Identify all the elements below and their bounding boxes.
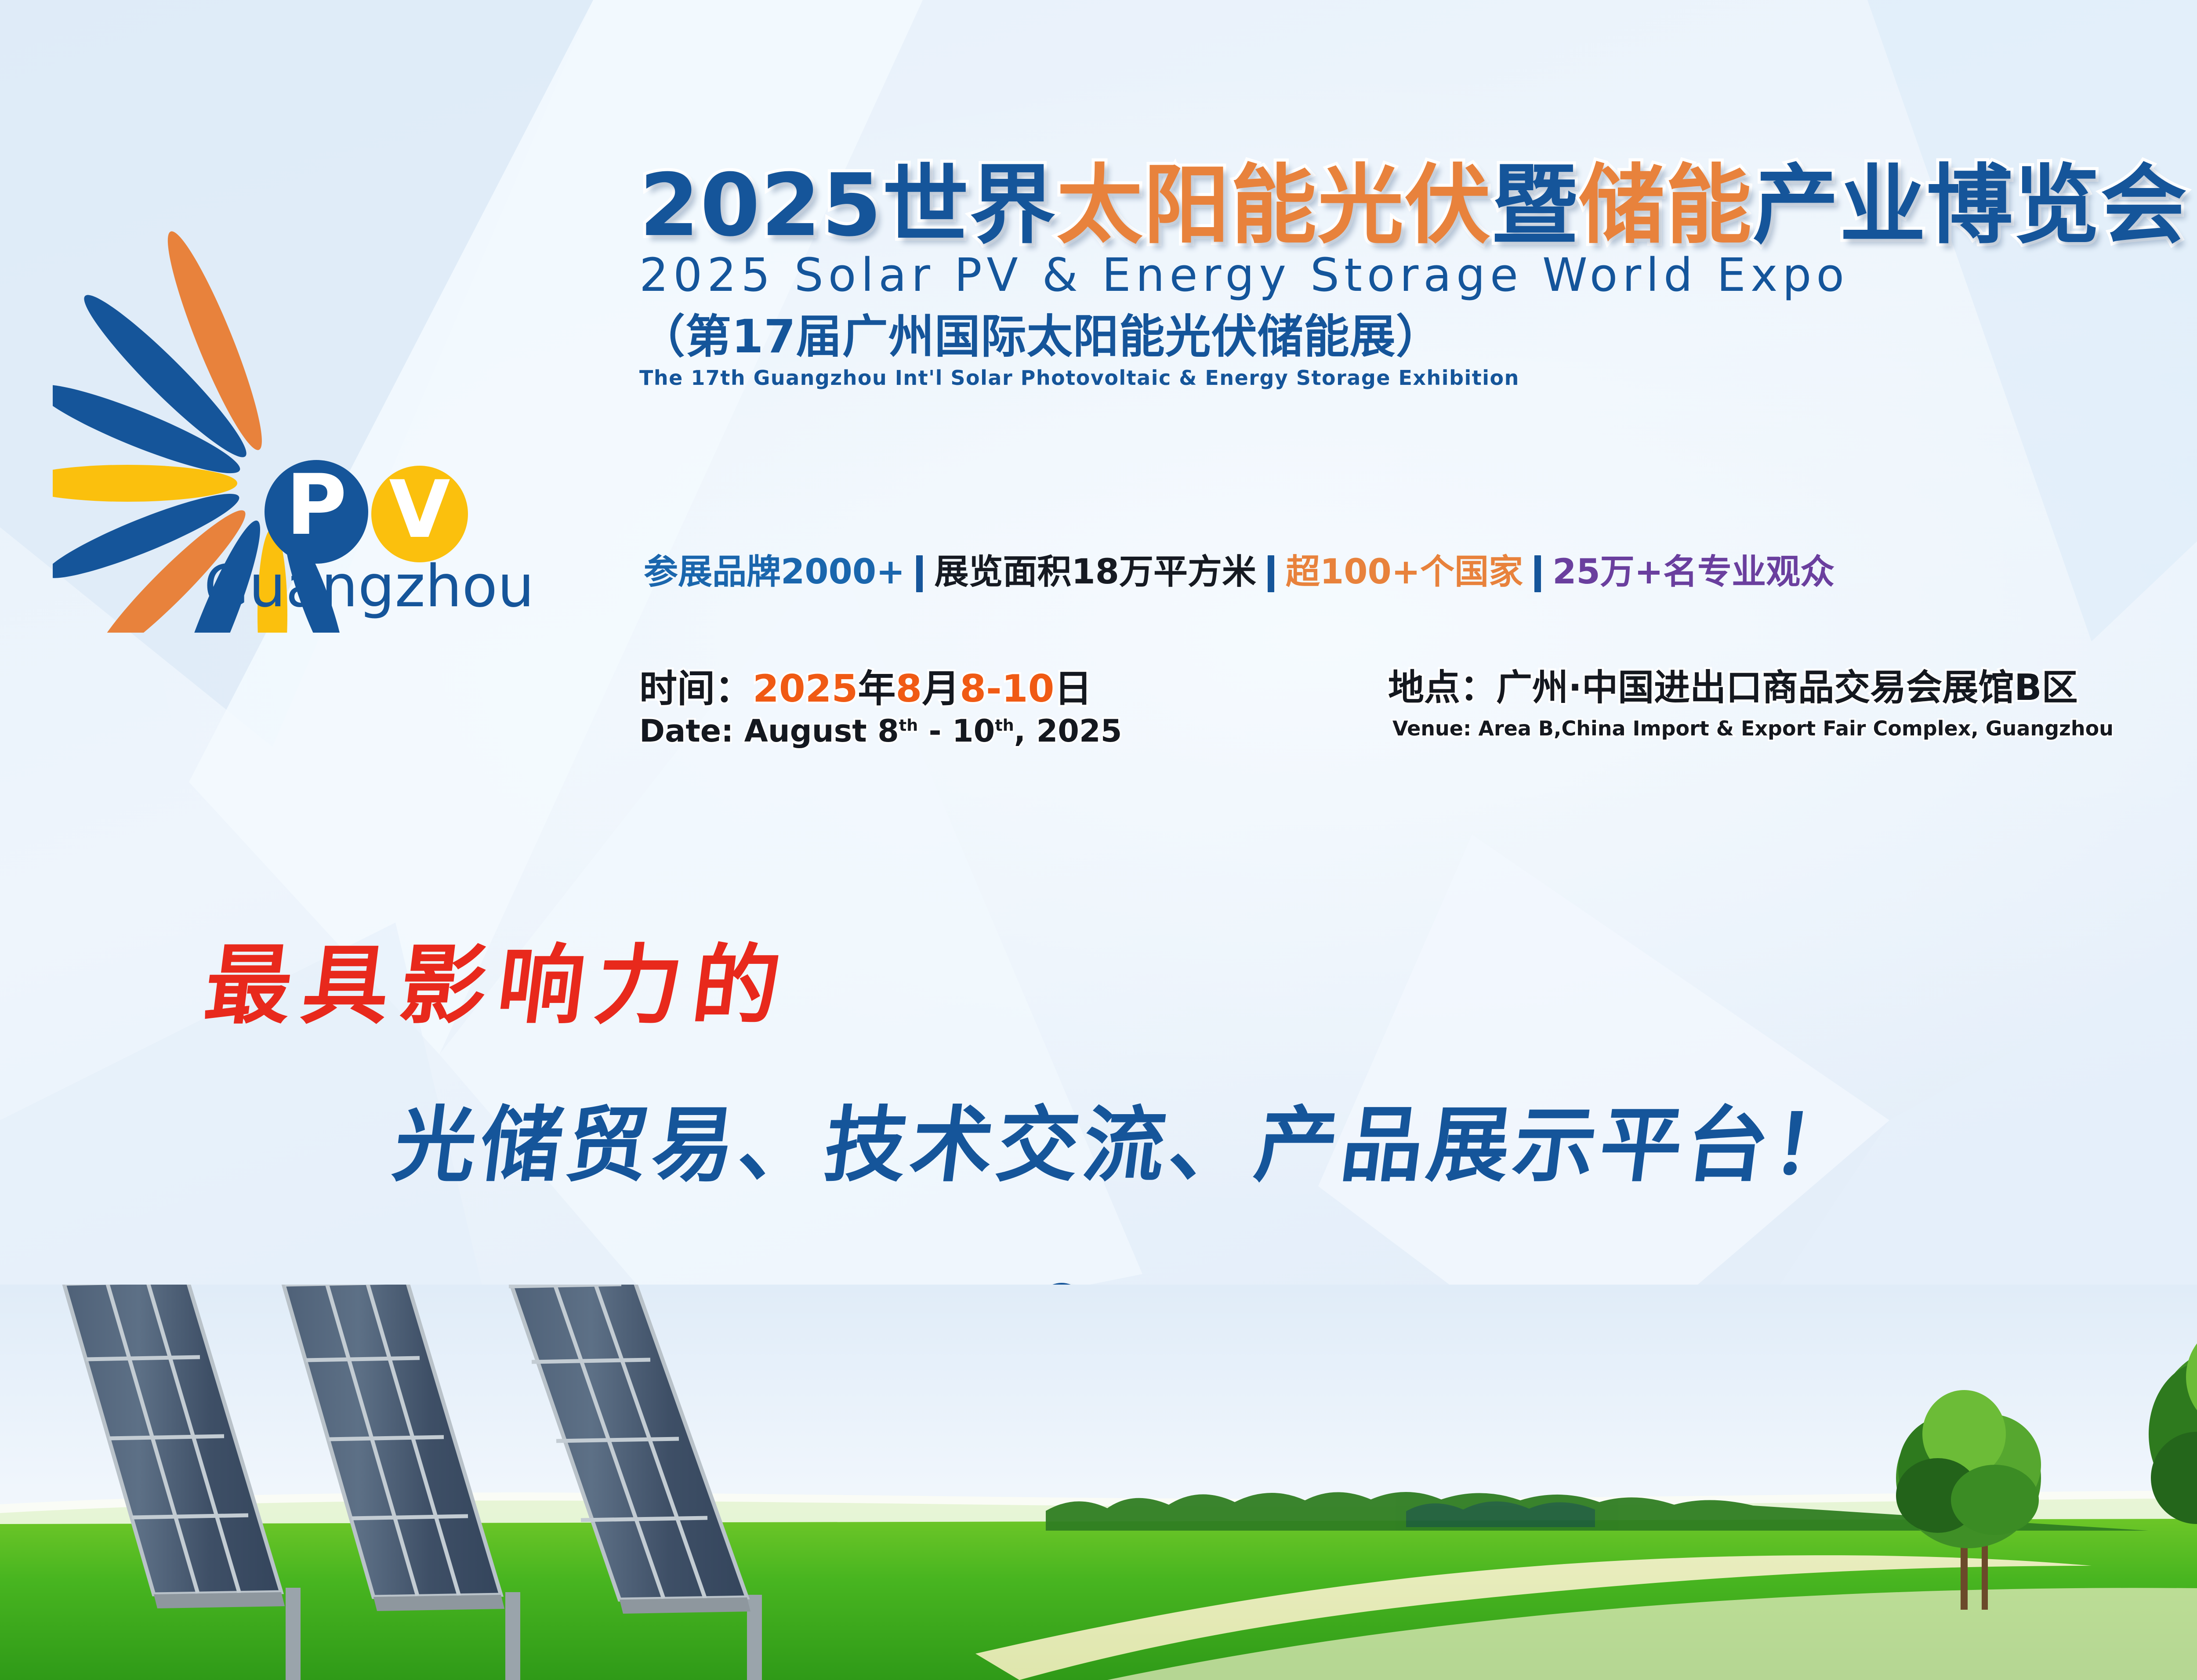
- poster-canvas: P V Guangzhou 2025世界太阳能光伏暨储能产业博览会 2025 S…: [0, 0, 2197, 1680]
- date-year: 2025: [753, 667, 858, 711]
- date-en-sup-1: th: [899, 716, 918, 735]
- stat-separator-2: [1268, 555, 1274, 592]
- slogan-line-1: 最具影响力的: [199, 916, 800, 1040]
- stat-separator-3: [1534, 555, 1541, 592]
- venue-value-cn: 广州·中国进出口商品交易会展馆B区: [1496, 667, 2078, 709]
- slogan-line-2: 光储贸易、技术交流、产品展示平台！: [388, 1079, 1867, 1197]
- scenery: [0, 1285, 2197, 1680]
- stat-countries: 超100+个国家: [1286, 555, 1523, 589]
- stat-separator-1: [916, 555, 923, 592]
- date-en-suffix: , 2025: [1014, 713, 1122, 749]
- headline-part-1: 2025世界: [639, 156, 1057, 256]
- date-days: 8-10: [960, 667, 1054, 711]
- headline-block: 2025世界太阳能光伏暨储能产业博览会 2025 Solar PV & Ener…: [639, 163, 2197, 389]
- subtitle-english: The 17th Guangzhou Int'l Solar Photovolt…: [639, 367, 2197, 389]
- date-month-unit: 月: [922, 667, 960, 711]
- venue-english: Venue: Area B,China Import & Export Fair…: [1392, 717, 2114, 740]
- stat-area: 展览面积18万平方米: [934, 555, 1256, 589]
- date-en-prefix: Date: August 8: [639, 713, 899, 749]
- date-year-unit: 年: [858, 667, 895, 711]
- venue-chinese: 地点：广州·中国进出口商品交易会展馆B区: [1388, 668, 2114, 708]
- date-label-cn: 时间：: [639, 667, 753, 711]
- date-english: Date: August 8th - 10th, 2025: [639, 713, 1360, 749]
- subtitle-chinese: （第17届广州国际太阳能光伏储能展）: [639, 313, 2197, 361]
- headline-part-2: 太阳能光伏: [1057, 156, 1492, 256]
- logo-artwork: P V Guangzhou: [53, 158, 593, 633]
- venue-column: 地点：广州·中国进出口商品交易会展馆B区 Venue: Area B,China…: [1388, 668, 2114, 749]
- logo-wordmark: Guangzhou: [204, 553, 534, 620]
- headline-part-4: 储能: [1579, 156, 1753, 256]
- date-chinese: 时间：2025年8月8-10日: [639, 668, 1360, 710]
- stats-strip: 参展品牌2000+展览面积18万平方米超100+个国家25万+名专业观众: [644, 553, 1834, 590]
- headline-english: 2025 Solar PV & Energy Storage World Exp…: [639, 252, 2197, 298]
- date-column: 时间：2025年8月8-10日 Date: August 8th - 10th,…: [639, 668, 1360, 749]
- date-day-unit: 日: [1054, 667, 1092, 711]
- date-month: 8: [895, 667, 922, 711]
- logo-letter-v: V: [389, 464, 450, 556]
- headline-part-3: 暨: [1492, 156, 1579, 256]
- headline-part-5: 产业博览会: [1753, 156, 2188, 256]
- venue-label-cn: 地点：: [1388, 667, 1496, 709]
- date-en-sup-2: th: [995, 716, 1014, 735]
- date-venue-block: 时间：2025年8月8-10日 Date: August 8th - 10th,…: [639, 668, 2197, 749]
- stat-visitors: 25万+名专业观众: [1552, 555, 1834, 589]
- pv-guangzhou-logo: P V Guangzhou: [53, 158, 593, 633]
- date-en-mid: - 10: [918, 713, 995, 749]
- stat-brands: 参展品牌2000+: [644, 555, 905, 589]
- headline-chinese: 2025世界太阳能光伏暨储能产业博览会: [639, 163, 2197, 249]
- logo-letter-p: P: [286, 456, 347, 554]
